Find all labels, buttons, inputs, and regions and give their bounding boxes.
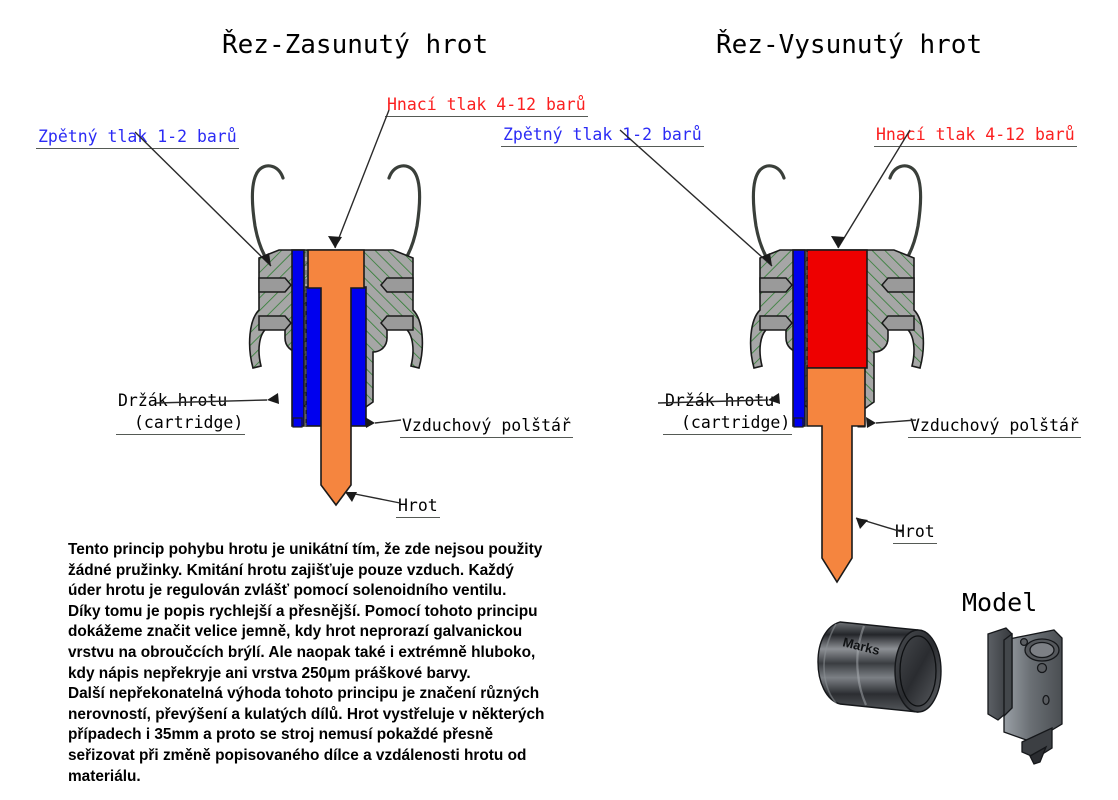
description-line: Díky tomu je popis rychlejší a přesnější… bbox=[68, 602, 588, 623]
leader-underline bbox=[385, 116, 588, 117]
description-line: seřizovat při změně popisovaného dílce a… bbox=[68, 746, 588, 767]
description-line: materiálu. bbox=[68, 767, 588, 788]
description-line: případech i 35mm a proto se stroj nemusí… bbox=[68, 725, 588, 746]
description-line: nerovností, převýšení a kulatých dílů. H… bbox=[68, 705, 588, 726]
cylinder-shape bbox=[818, 622, 941, 712]
right-cross-section-drawing bbox=[672, 140, 1002, 620]
piston-extended bbox=[807, 368, 865, 582]
left-cross-section-drawing bbox=[175, 140, 495, 530]
right-diagram-title: Řez-Vysunutý hrot bbox=[716, 30, 982, 60]
marking-head-photo bbox=[958, 616, 1070, 766]
model-label: Model bbox=[962, 588, 1037, 617]
description-line: žádné pružinky. Kmitání hrotu zajišťuje … bbox=[68, 561, 588, 582]
left-label-drive-pressure: Hnací tlak 4-12 barů bbox=[385, 94, 588, 117]
description-line: vrstvu na obroučcích brýlí. Ale naopak t… bbox=[68, 643, 588, 664]
diagram-page: Řez-Zasunutý hrot Zpětný tlak 1-2 barů H… bbox=[0, 0, 1118, 800]
marked-cylinder-photo: Marks bbox=[806, 604, 966, 724]
description-line: kdy nápis nepřekryje ani vrstva 250μm pr… bbox=[68, 664, 588, 685]
left-label-drive-pressure-text: Hnací tlak 4-12 barů bbox=[385, 94, 588, 116]
description-line: Další nepřekonatelná výhoda tohoto princ… bbox=[68, 684, 588, 705]
description-paragraph: Tento princip pohybu hrotu je unikátní t… bbox=[68, 540, 588, 787]
description-line: dokážeme značit velice jemně, kdy hrot n… bbox=[68, 622, 588, 643]
left-return-air-channel bbox=[292, 250, 304, 426]
description-line: Tento princip pohybu hrotu je unikátní t… bbox=[68, 540, 588, 561]
drive-pressure-chamber bbox=[807, 250, 867, 368]
left-diagram-title: Řez-Zasunutý hrot bbox=[222, 30, 488, 60]
description-line: úder hrotu je regulován zvlášť pomocí so… bbox=[68, 581, 588, 602]
return-air-channel bbox=[793, 250, 805, 426]
marking-head-shape bbox=[988, 628, 1062, 764]
